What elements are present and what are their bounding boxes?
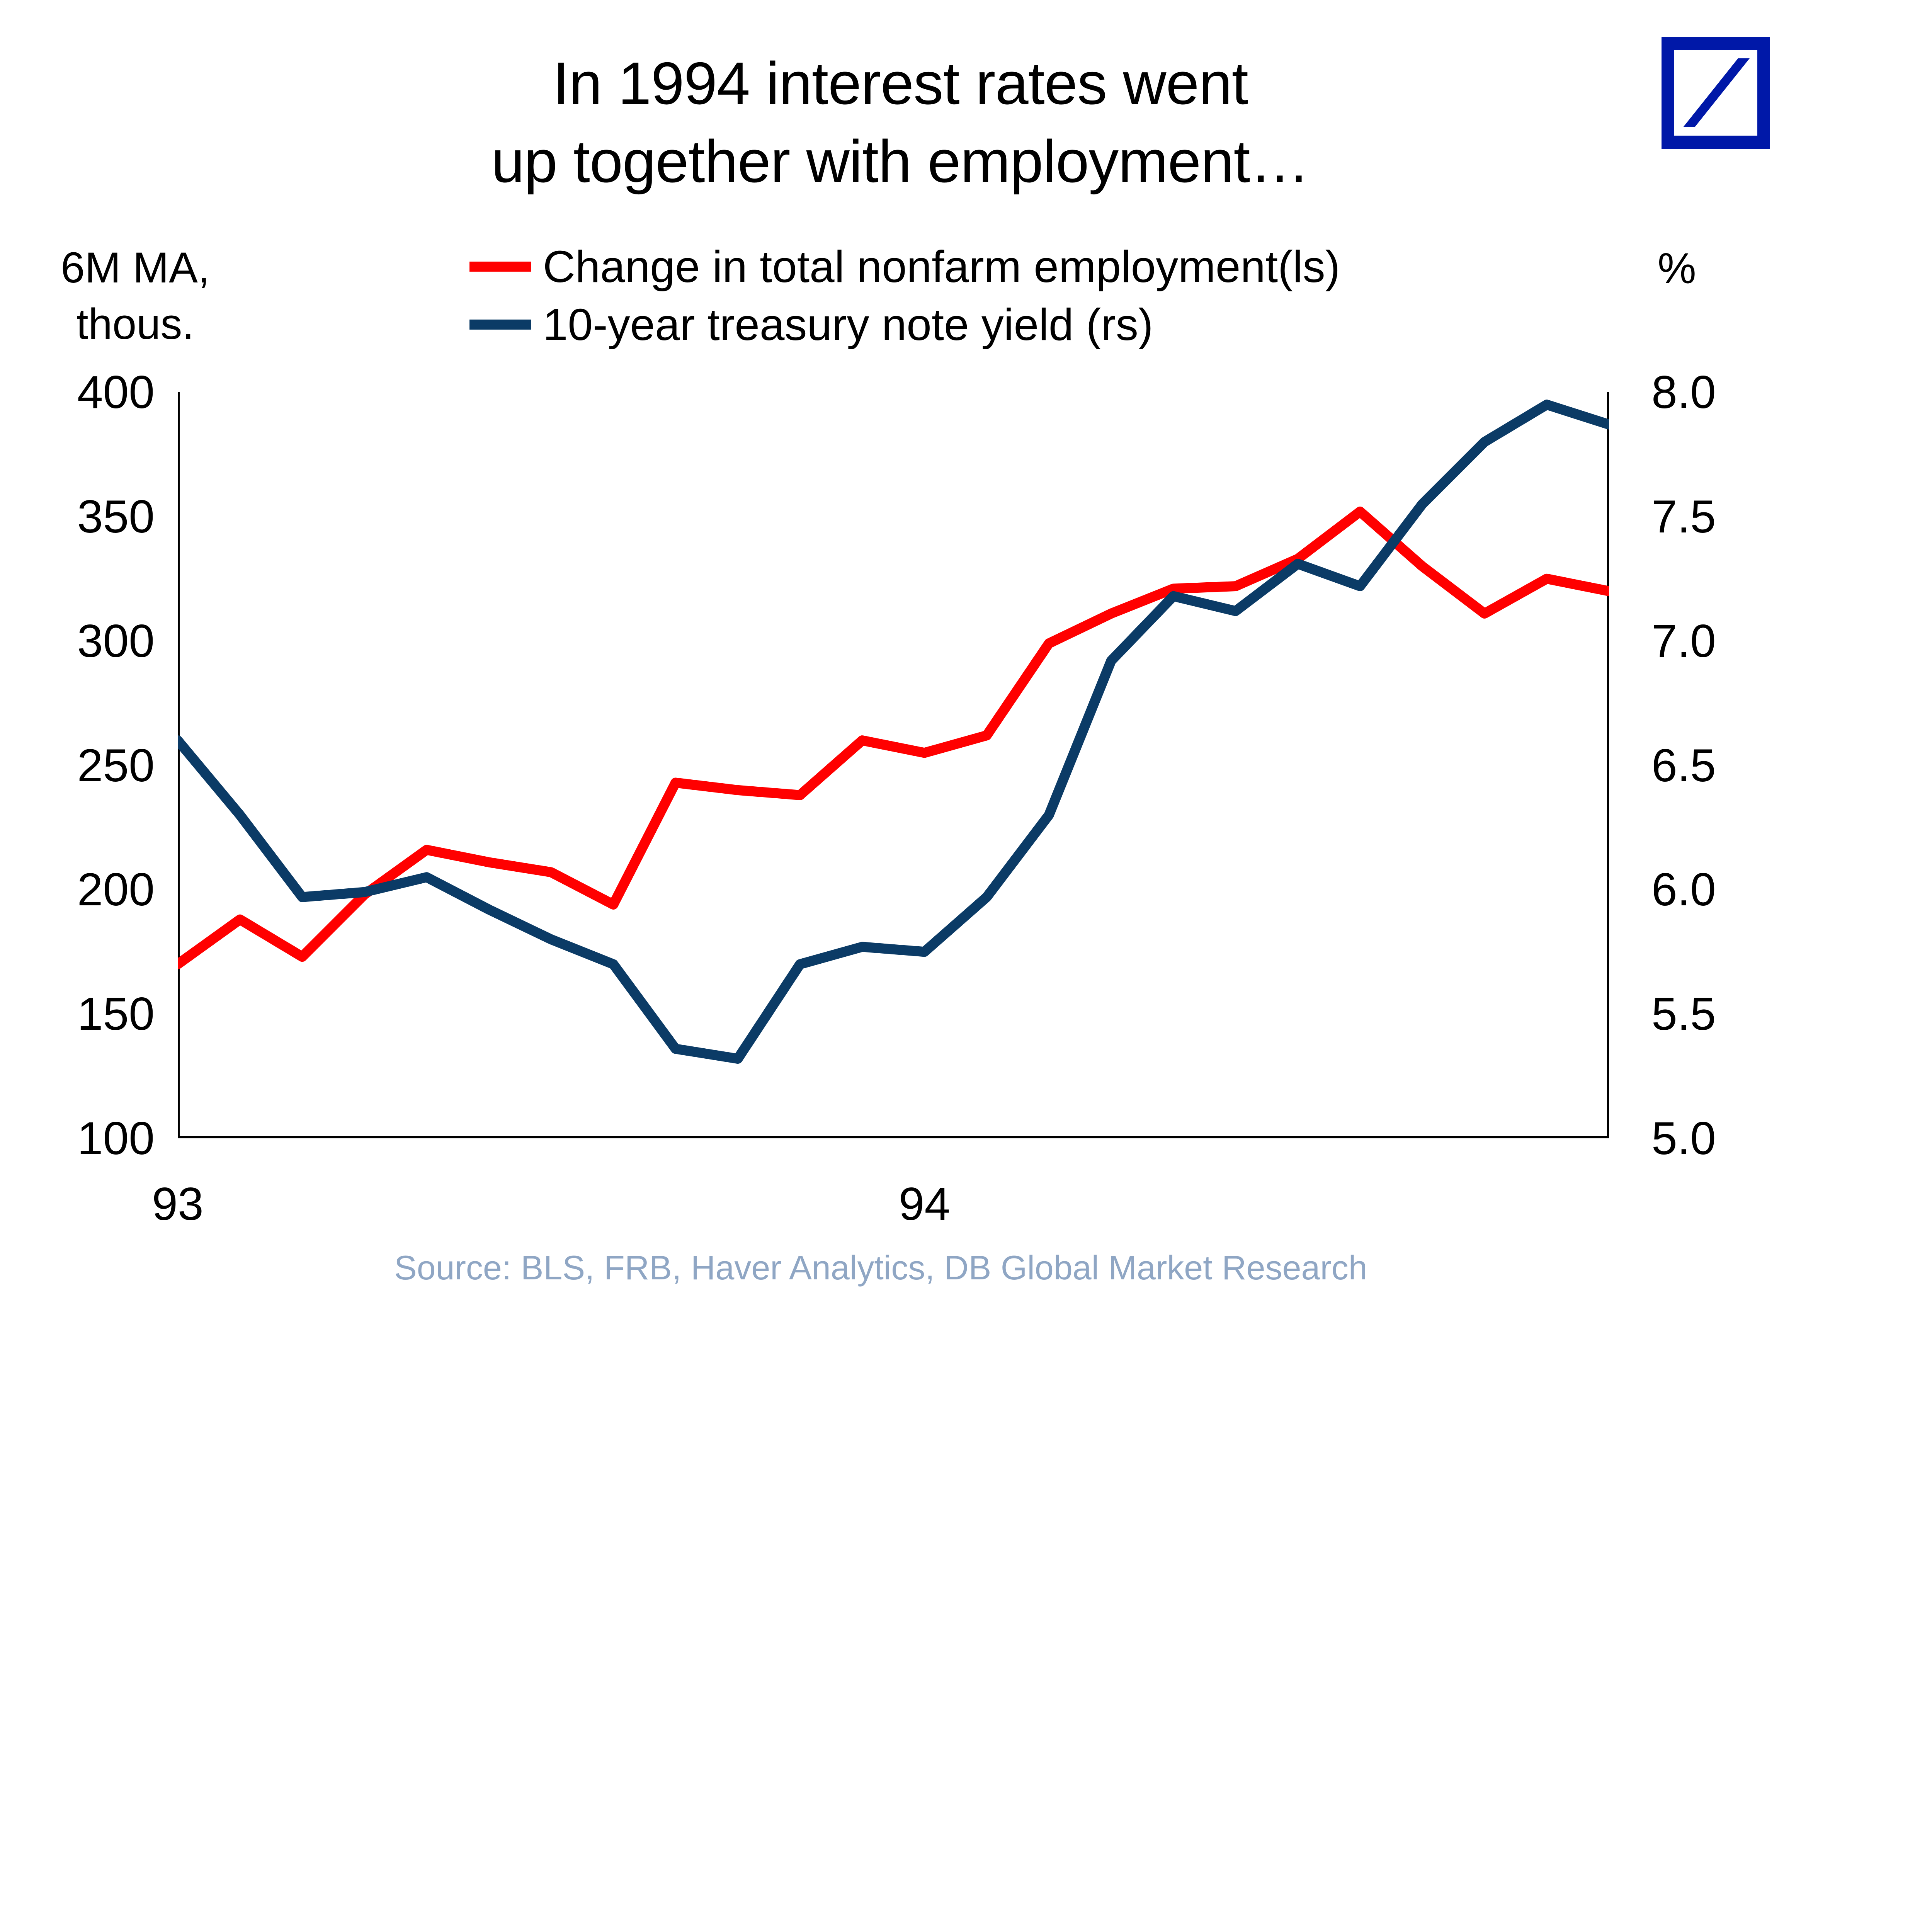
chart-legend: Change in total nonfarm employment(ls) 1… — [469, 238, 1340, 354]
right-axis-tick-label: 6.5 — [1651, 742, 1791, 789]
left-axis-tick-label: 100 — [15, 1115, 155, 1162]
legend-label-employment: Change in total nonfarm employment(ls) — [543, 241, 1340, 293]
right-axis-tick-label: 5.5 — [1651, 991, 1791, 1037]
left-axis-tick-label: 350 — [15, 493, 155, 540]
left-axis-tick-label: 200 — [15, 866, 155, 913]
title-line-1: In 1994 interest rates went — [379, 44, 1422, 122]
legend-item-employment[interactable]: Change in total nonfarm employment(ls) — [469, 238, 1340, 296]
x-axis-tick-label: 93 — [120, 1181, 236, 1227]
series-line-employment — [178, 512, 1609, 964]
chart-svg — [178, 392, 1609, 1138]
left-axis-tick-label: 250 — [15, 742, 155, 789]
right-axis-tick-label: 5.0 — [1651, 1115, 1791, 1162]
series-line-yield — [178, 405, 1609, 1059]
left-axis-caption-line-1: 6M MA, — [54, 240, 216, 296]
axis-tick-marks — [178, 392, 1609, 1138]
right-axis-caption: % — [1658, 243, 1696, 293]
deutsche-bank-logo — [1662, 37, 1770, 149]
right-axis-tick-label: 8.0 — [1651, 369, 1791, 415]
legend-swatch-employment — [469, 262, 531, 272]
left-axis-caption: 6M MA, thous. — [54, 240, 216, 352]
right-axis-tick-label: 6.0 — [1651, 866, 1791, 913]
chart-slide: In 1994 interest rates went up together … — [0, 0, 1932, 1932]
right-axis-tick-label: 7.0 — [1651, 618, 1791, 664]
left-axis-caption-line-2: thous. — [54, 296, 216, 352]
left-axis-tick-label: 150 — [15, 991, 155, 1037]
legend-item-yield[interactable]: 10-year treasury note yield (rs) — [469, 296, 1340, 354]
title-line-2: up together with employment… — [379, 122, 1422, 201]
logo-inner-square — [1674, 50, 1757, 136]
legend-label-yield: 10-year treasury note yield (rs) — [543, 299, 1153, 350]
right-axis-tick-label: 7.5 — [1651, 493, 1791, 540]
left-axis-tick-label: 300 — [15, 618, 155, 664]
source-note: Source: BLS, FRB, Haver Analytics, DB Gl… — [394, 1248, 1367, 1287]
chart-plot-area — [178, 392, 1609, 1138]
axis-frame — [178, 392, 1609, 1138]
page-title: In 1994 interest rates went up together … — [379, 44, 1422, 200]
x-axis-tick-label: 94 — [867, 1181, 983, 1227]
left-axis-tick-label: 400 — [15, 369, 155, 415]
legend-swatch-yield — [469, 320, 531, 330]
logo-slash-icon — [1681, 57, 1750, 129]
